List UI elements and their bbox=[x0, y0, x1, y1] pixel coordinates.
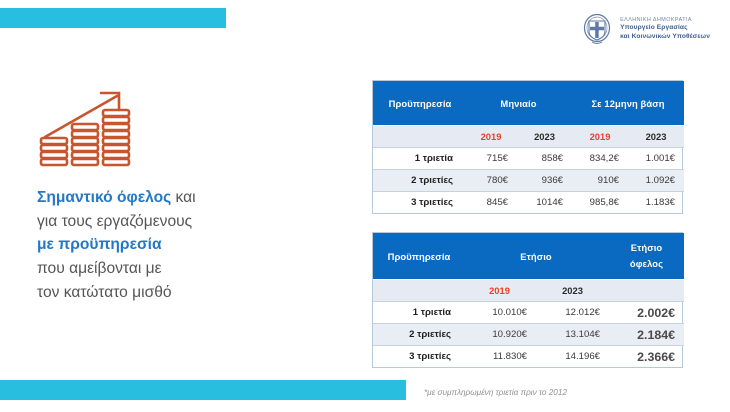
top-accent-bar bbox=[0, 8, 226, 28]
logo-line-ministry: Υπουργείο Εργασίας bbox=[620, 24, 710, 33]
annual-benefit-table: Προϋπηρεσία Ετήσιο Ετήσιο όφελος 2019 20… bbox=[372, 232, 683, 368]
table2-header-annual: Ετήσιο bbox=[463, 233, 609, 280]
table1-row0-monthly-2023: 858€ bbox=[517, 148, 572, 170]
headline-plain-1: και bbox=[176, 189, 196, 206]
bottom-accent-bar bbox=[0, 380, 406, 400]
table1-subheader-annualized-2023: 2023 bbox=[628, 126, 684, 148]
headline: Σημαντικό όφελος και για τους εργαζόμενο… bbox=[37, 186, 305, 304]
table2-row2-annual-2019: 11.830€ bbox=[463, 346, 536, 368]
table2-row0-annual-2023: 12.012€ bbox=[536, 302, 609, 324]
table1-row0-monthly-2019: 715€ bbox=[465, 148, 517, 170]
table2-header-seniority: Προϋπηρεσία bbox=[373, 233, 463, 280]
table1-subheader-blank bbox=[373, 126, 465, 148]
table-row: 3 τριετίες 845€ 1014€ 985,8€ 1.183€ bbox=[373, 192, 684, 214]
headline-highlight-1: Σημαντικό όφελος bbox=[37, 189, 176, 206]
table1-row0-annualized-2019: 834,2€ bbox=[572, 148, 628, 170]
table1-row1-annualized-2023: 1.092€ bbox=[628, 170, 684, 192]
table2-row0-benefit: 2.002€ bbox=[609, 302, 684, 324]
table2-row1-annual-2019: 10.920€ bbox=[463, 324, 536, 346]
greek-coat-of-arms-icon bbox=[581, 12, 613, 46]
table1-subheader-monthly-2019: 2019 bbox=[465, 126, 517, 148]
table2-row2-label: 3 τριετίες bbox=[373, 346, 463, 368]
table2-row2-benefit: 2.366€ bbox=[609, 346, 684, 368]
annual-benefit-grid: Προϋπηρεσία Ετήσιο Ετήσιο όφελος 2019 20… bbox=[373, 233, 684, 367]
table1-row2-annualized-2023: 1.183€ bbox=[628, 192, 684, 214]
table1-row0-annualized-2023: 1.001€ bbox=[628, 148, 684, 170]
table1-header-monthly: Μηνιαίο bbox=[465, 81, 572, 126]
table2-row0-label: 1 τριετία bbox=[373, 302, 463, 324]
monthly-salary-grid: Προϋπηρεσία Μηνιαίο Σε 12μηνη βάση 2019 … bbox=[373, 81, 684, 213]
table1-subheader-annualized-2019: 2019 bbox=[572, 126, 628, 148]
table2-subheader-blank bbox=[373, 280, 463, 302]
table-row: 3 τριετίες 11.830€ 14.196€ 2.366€ bbox=[373, 346, 684, 368]
table1-row1-annualized-2019: 910€ bbox=[572, 170, 628, 192]
table2-row1-benefit: 2.184€ bbox=[609, 324, 684, 346]
table1-row2-monthly-2019: 845€ bbox=[465, 192, 517, 214]
logo-line-republic: ΕΛΛΗΝΙΚΗ ΔΗΜΟΚΡΑΤΙΑ bbox=[620, 17, 710, 24]
table2-header-annual-benefit-line2: όφελος bbox=[630, 258, 663, 269]
table2-header-annual-benefit: Ετήσιο όφελος bbox=[609, 233, 684, 280]
headline-line-5: τον κατώτατο μισθό bbox=[37, 281, 305, 305]
table2-row1-annual-2023: 13.104€ bbox=[536, 324, 609, 346]
table1-row1-label: 2 τριετίες bbox=[373, 170, 465, 192]
headline-line-4: που αμείβονται με bbox=[37, 257, 305, 281]
table1-row1-monthly-2023: 936€ bbox=[517, 170, 572, 192]
table1-header-12month: Σε 12μηνη βάση bbox=[572, 81, 684, 126]
table2-row0-annual-2019: 10.010€ bbox=[463, 302, 536, 324]
table2-header-row: Προϋπηρεσία Ετήσιο Ετήσιο όφελος bbox=[373, 233, 684, 280]
slide-canvas: ΕΛΛΗΝΙΚΗ ΔΗΜΟΚΡΑΤΙΑ Υπουργείο Εργασίας κ… bbox=[0, 0, 730, 412]
ministry-logo-text: ΕΛΛΗΝΙΚΗ ΔΗΜΟΚΡΑΤΙΑ Υπουργείο Εργασίας κ… bbox=[620, 17, 710, 42]
headline-line-1: Σημαντικό όφελος και bbox=[37, 186, 305, 210]
headline-line-2: για τους εργαζόμενους bbox=[37, 210, 305, 234]
table1-row0-label: 1 τριετία bbox=[373, 148, 465, 170]
table1-row2-annualized-2019: 985,8€ bbox=[572, 192, 628, 214]
ministry-logo: ΕΛΛΗΝΙΚΗ ΔΗΜΟΚΡΑΤΙΑ Υπουργείο Εργασίας κ… bbox=[581, 12, 710, 46]
table2-header-annual-benefit-line1: Ετήσιο bbox=[631, 242, 663, 253]
growing-coin-stacks-with-arrow-icon bbox=[33, 82, 137, 168]
table2-subheader-row: 2019 2023 bbox=[373, 280, 684, 302]
table1-header-row: Προϋπηρεσία Μηνιαίο Σε 12μηνη βάση bbox=[373, 81, 684, 126]
table-row: 1 τριετία 10.010€ 12.012€ 2.002€ bbox=[373, 302, 684, 324]
monthly-salary-table: Προϋπηρεσία Μηνιαίο Σε 12μηνη βάση 2019 … bbox=[372, 80, 683, 214]
table2-row1-label: 2 τριετίες bbox=[373, 324, 463, 346]
table1-subheader-monthly-2023: 2023 bbox=[517, 126, 572, 148]
table2-subheader-annual-2019: 2019 bbox=[463, 280, 536, 302]
footnote: *με συμπληρωμένη τριετία πριν το 2012 bbox=[424, 388, 567, 397]
headline-line-3: με προϋπηρεσία bbox=[37, 233, 305, 257]
table2-row2-annual-2023: 14.196€ bbox=[536, 346, 609, 368]
table1-header-seniority: Προϋπηρεσία bbox=[373, 81, 465, 126]
table-row: 2 τριετίες 10.920€ 13.104€ 2.184€ bbox=[373, 324, 684, 346]
table1-row1-monthly-2019: 780€ bbox=[465, 170, 517, 192]
logo-line-ministry-cont: και Κοινωνικών Υποθέσεων bbox=[620, 33, 710, 42]
table1-subheader-row: 2019 2023 2019 2023 bbox=[373, 126, 684, 148]
table2-subheader-annual-2023: 2023 bbox=[536, 280, 609, 302]
table-row: 1 τριετία 715€ 858€ 834,2€ 1.001€ bbox=[373, 148, 684, 170]
table2-subheader-benefit-blank bbox=[609, 280, 684, 302]
table-row: 2 τριετίες 780€ 936€ 910€ 1.092€ bbox=[373, 170, 684, 192]
table1-row2-label: 3 τριετίες bbox=[373, 192, 465, 214]
table1-row2-monthly-2023: 1014€ bbox=[517, 192, 572, 214]
